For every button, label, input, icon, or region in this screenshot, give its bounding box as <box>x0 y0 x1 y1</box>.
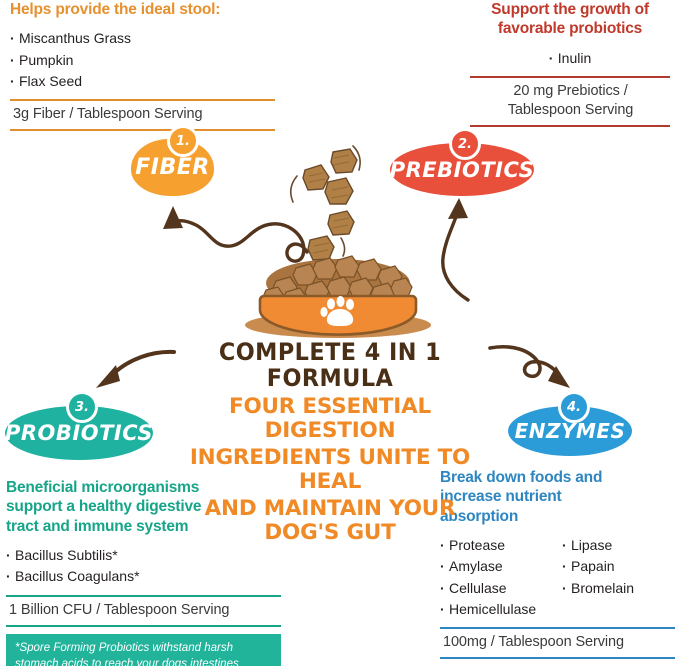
list-item: Amylase <box>440 556 562 577</box>
badge-probiotics-number: 3. <box>66 391 98 423</box>
fiber-heading: Helps provide the ideal stool: <box>10 0 275 19</box>
list-item: Pumpkin <box>10 50 275 71</box>
prebiotics-heading-line1: Support the growth of <box>470 0 670 19</box>
list-item: Bacillus Subtilis* <box>6 545 281 566</box>
prebiotics-serving-line1: 20 mg Prebiotics / <box>473 82 668 101</box>
headline-sub-line2: INGREDIENTS UNITE TO HEAL <box>165 446 495 494</box>
panel-prebiotics: Support the growth of favorable probioti… <box>470 0 670 127</box>
probiotics-footnote: *Spore Forming Probiotics withstand hars… <box>6 634 281 666</box>
arrow-to-enzymes-icon <box>490 347 570 388</box>
badge-fiber[interactable]: FIBER 1. <box>131 139 214 196</box>
list-item: Miscanthus Grass <box>10 28 275 49</box>
headline-sub-line1: FOUR ESSENTIAL DIGESTION <box>165 395 495 443</box>
headline-block: COMPLETE 4 IN 1 FORMULA FOUR ESSENTIAL D… <box>165 340 495 545</box>
badge-prebiotics-number: 2. <box>449 128 481 160</box>
headline-sub-line3: AND MAINTAIN YOUR DOG'S GUT <box>165 497 495 545</box>
prebiotics-heading-line2: favorable probiotics <box>470 19 670 38</box>
list-item: Papain <box>562 556 672 577</box>
enzymes-ingredient-columns: Protease Amylase Cellulase Hemicellulase… <box>440 535 675 620</box>
list-item: Inulin <box>549 48 591 69</box>
probiotics-serving-text: 1 Billion CFU / Tablespoon Serving <box>9 601 279 620</box>
badge-probiotics-label: PROBIOTICS <box>5 421 153 445</box>
probiotics-ingredient-list: Bacillus Subtilis* Bacillus Coagulans* <box>6 545 281 588</box>
prebiotics-divider-bottom <box>470 125 670 127</box>
list-item: Bromelain <box>562 578 672 599</box>
badge-fiber-number: 1. <box>167 125 199 157</box>
list-item: Hemicellulase <box>440 599 562 620</box>
arrow-to-fiber-icon <box>163 206 307 261</box>
list-item: Bacillus Coagulans* <box>6 566 281 587</box>
badge-prebiotics[interactable]: PREBIOTICS 2. <box>390 143 534 196</box>
dog-bowl-icon <box>245 256 431 338</box>
list-item: Flax Seed <box>10 71 275 92</box>
panel-fiber: Helps provide the ideal stool: Miscanthu… <box>10 0 275 131</box>
arrow-to-prebiotics-icon <box>443 198 468 300</box>
probiotics-divider-bottom <box>6 625 281 627</box>
prebiotics-serving-line2: Tablespoon Serving <box>473 101 668 120</box>
enzymes-ingredient-list-right: Lipase Papain Bromelain <box>562 535 672 620</box>
headline-main: COMPLETE 4 IN 1 FORMULA <box>177 340 484 392</box>
infographic-page: Helps provide the ideal stool: Miscanthu… <box>0 0 679 666</box>
fiber-serving-text: 3g Fiber / Tablespoon Serving <box>13 105 273 124</box>
badge-probiotics[interactable]: PROBIOTICS 3. <box>5 406 153 460</box>
arrow-to-probiotics-icon <box>96 352 174 388</box>
prebiotics-ingredient-list: Inulin <box>549 48 591 69</box>
list-item: Lipase <box>562 535 672 556</box>
badge-enzymes-number: 4. <box>558 391 590 423</box>
falling-kibble-icon <box>291 146 360 260</box>
enzymes-ingredient-list-left: Protease Amylase Cellulase Hemicellulase <box>440 535 562 620</box>
probiotics-footnote-line2: stomach acids to reach your dogs intesti… <box>15 656 273 666</box>
enzymes-serving-text: 100mg / Tablespoon Serving <box>443 633 673 652</box>
probiotics-footnote-line1: *Spore Forming Probiotics withstand hars… <box>15 640 273 656</box>
badge-prebiotics-label: PREBIOTICS <box>390 158 535 182</box>
fiber-divider-bottom <box>10 129 275 131</box>
enzymes-divider-bottom <box>440 657 675 659</box>
badge-enzymes[interactable]: ENZYMES 4. <box>508 406 632 456</box>
badge-fiber-label: FIBER <box>135 155 209 180</box>
fiber-ingredient-list: Miscanthus Grass Pumpkin Flax Seed <box>10 28 275 92</box>
list-item: Cellulase <box>440 578 562 599</box>
